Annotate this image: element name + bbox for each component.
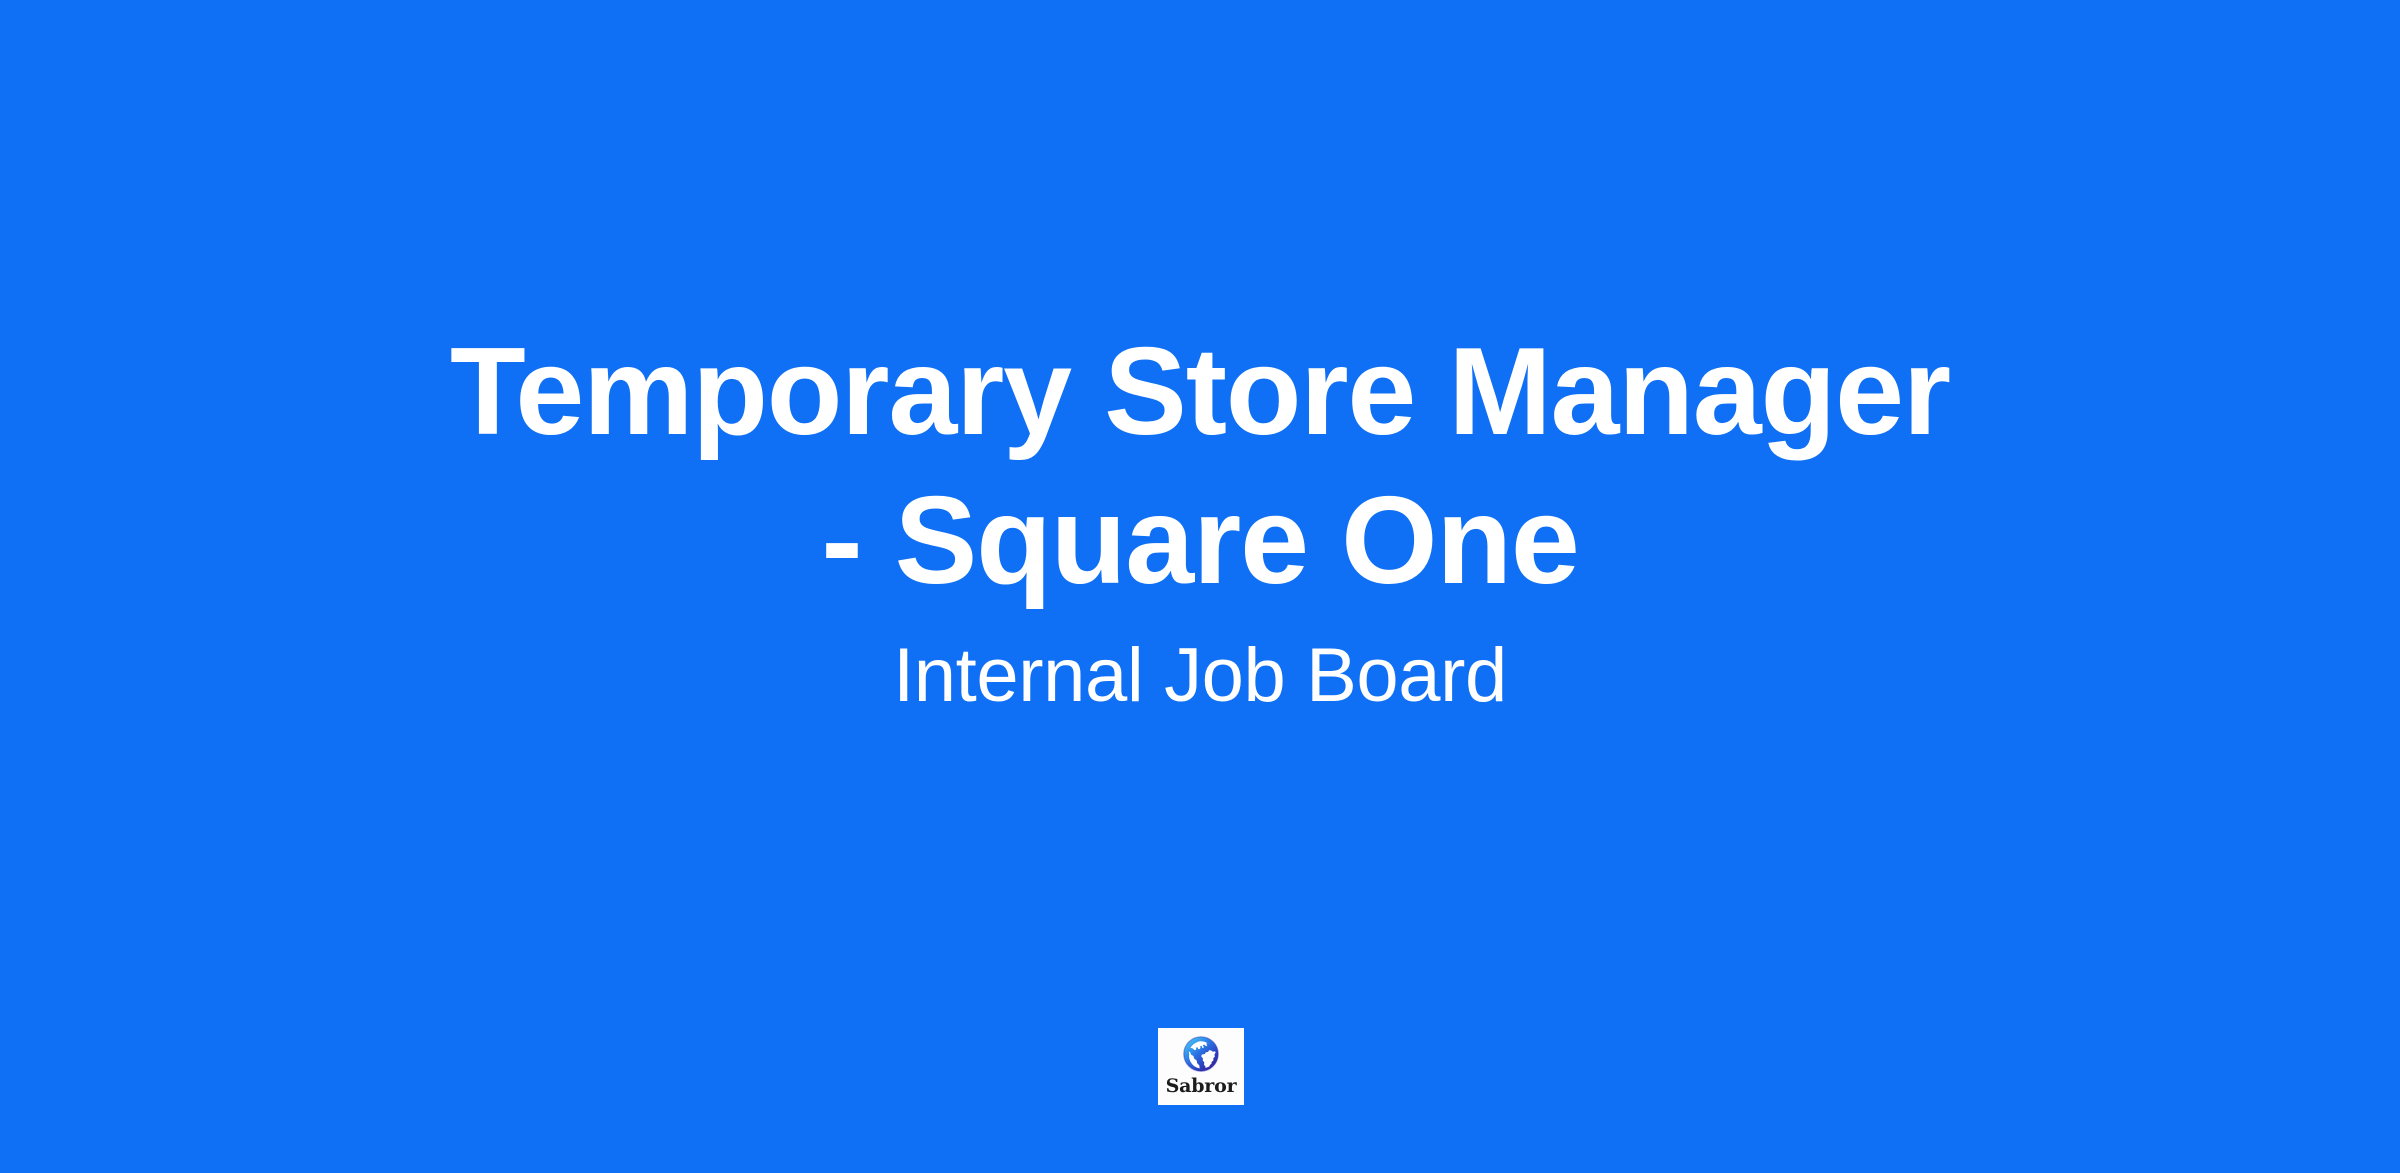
brand-logo[interactable]: Sabror [1158,1028,1244,1105]
hero-section: Temporary Store Manager - Square One Int… [0,0,2400,1173]
globe-icon [1182,1035,1220,1073]
brand-name: Sabror [1166,1075,1237,1097]
job-share-card: Temporary Store Manager - Square One Int… [0,0,2400,1173]
page-title: Temporary Store Manager - Square One [435,318,1965,616]
page-subtitle: Internal Job Board [400,628,2000,724]
